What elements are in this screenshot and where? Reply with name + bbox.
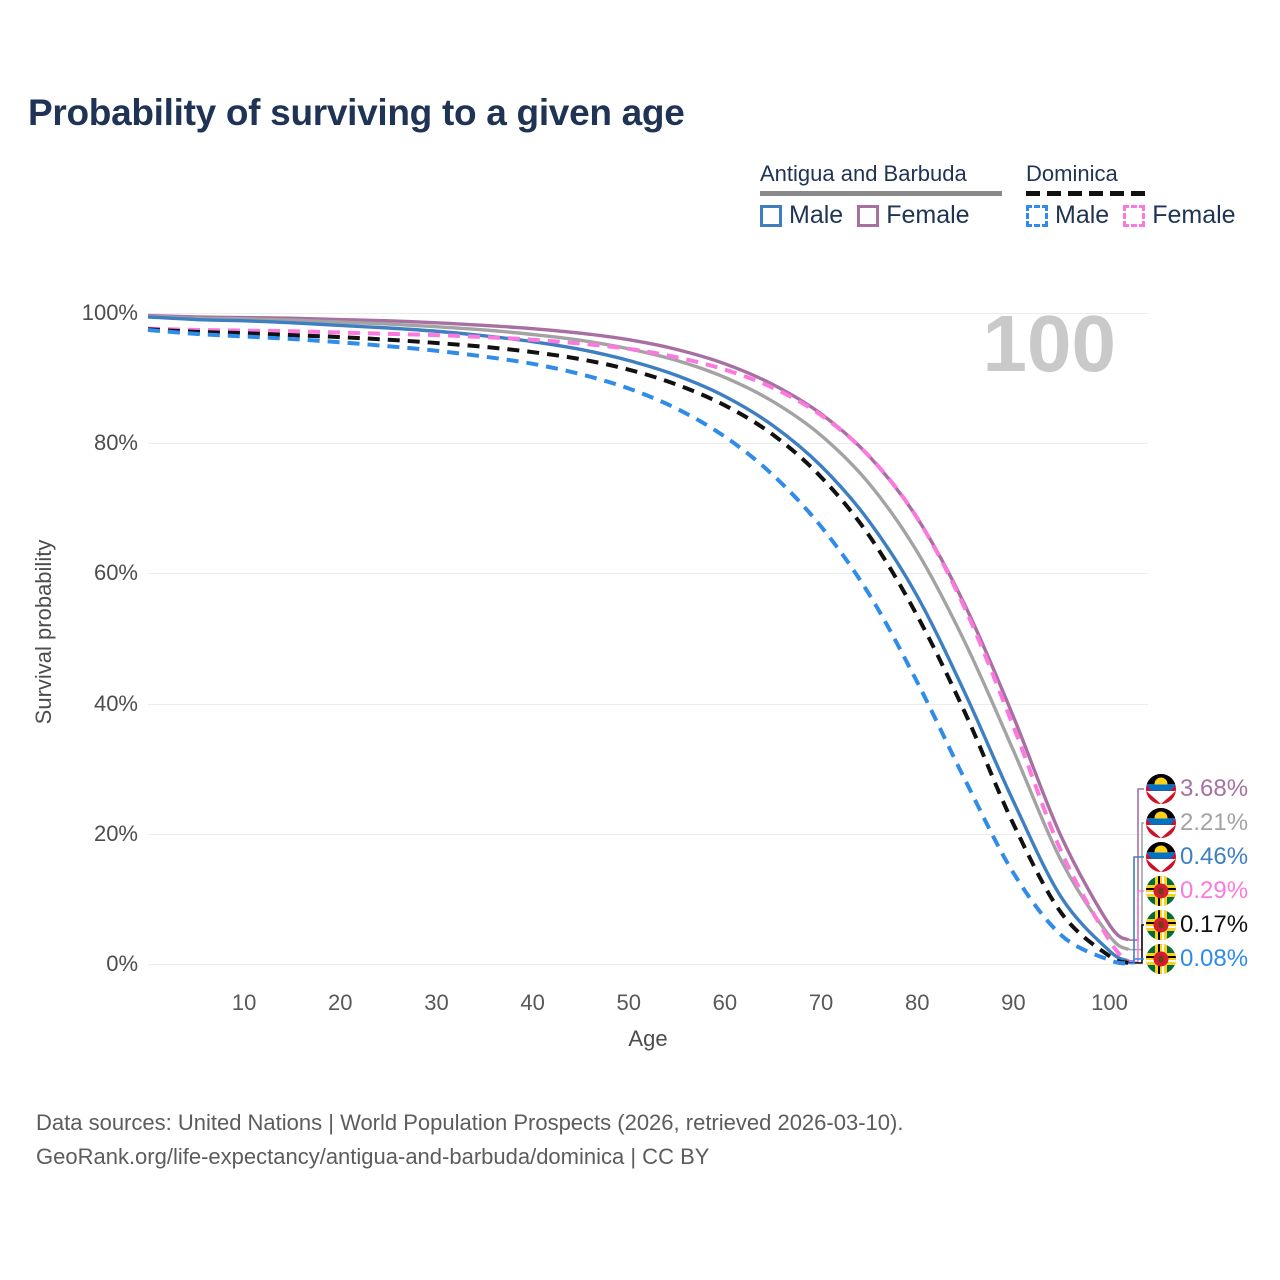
legend-item-dominica-female[interactable]: Female — [1123, 203, 1235, 228]
legend-group-dominica: Dominica Male Female — [1026, 163, 1150, 196]
series-line — [148, 330, 1129, 964]
x-axis-tick-label: 20 — [328, 990, 352, 1016]
chart-page: Probability of surviving to a given age … — [0, 0, 1280, 1280]
dominica-flag — [1146, 876, 1176, 906]
series-line — [148, 316, 1129, 940]
page-title: Probability of surviving to a given age — [28, 92, 685, 134]
antigua-and-barbuda-flag — [1146, 842, 1176, 872]
y-axis-tick-label: 80% — [94, 430, 138, 456]
end-label-value: 0.29% — [1180, 879, 1248, 903]
x-axis-tick-label: 60 — [713, 990, 737, 1016]
end-label-value: 0.17% — [1180, 913, 1248, 937]
legend-group-rule-solid — [760, 191, 1002, 196]
legend-item-label: Male — [789, 203, 843, 228]
chart-legend: Antigua and Barbuda Male Female Dominica — [744, 163, 1254, 237]
series-line — [148, 316, 1129, 949]
legend-group-title: Dominica — [1026, 163, 1150, 191]
legend-group-antigua-and-barbuda: Antigua and Barbuda Male Female — [760, 163, 1002, 196]
x-axis-tick-label: 50 — [617, 990, 641, 1016]
y-axis-tick-label: 40% — [94, 691, 138, 717]
y-axis-title: Survival probability — [31, 540, 57, 725]
x-axis-tick-label: 70 — [809, 990, 833, 1016]
y-axis-tick-label: 20% — [94, 821, 138, 847]
legend-items: Male Female — [1026, 203, 1236, 228]
legend-item-label: Male — [1055, 203, 1109, 228]
x-axis-tick-label: 100 — [1091, 990, 1128, 1016]
plot-area: 0%20%40%60%80%100% 102030405060708090100… — [148, 300, 1148, 964]
end-label-row[interactable]: 0.46% — [1146, 840, 1280, 874]
series-line — [148, 329, 1129, 963]
legend-item-antigua-female[interactable]: Female — [857, 203, 969, 228]
end-label-row[interactable]: 3.68% — [1146, 772, 1280, 806]
legend-group-title: Antigua and Barbuda — [760, 163, 1002, 191]
legend-items: Male Female — [760, 203, 970, 228]
end-label-row[interactable]: 0.08% — [1146, 942, 1280, 976]
end-label-value: 2.21% — [1180, 811, 1248, 835]
legend-item-antigua-male[interactable]: Male — [760, 203, 843, 228]
end-label-value: 0.08% — [1180, 947, 1248, 971]
end-label-row[interactable]: 0.17% — [1146, 908, 1280, 942]
footer-line-sources: Data sources: United Nations | World Pop… — [36, 1106, 903, 1140]
x-axis-tick-label: 40 — [520, 990, 544, 1016]
end-value-labels: 3.68%2.21%0.46%0.29%0.17%0.08% — [1146, 772, 1280, 976]
antigua-and-barbuda-flag — [1146, 808, 1176, 838]
footer: Data sources: United Nations | World Pop… — [36, 1106, 903, 1174]
dominica-flag — [1146, 944, 1176, 974]
x-axis-tick-label: 10 — [232, 990, 256, 1016]
legend-group-rule-dashed — [1026, 191, 1150, 196]
dominica-flag — [1146, 910, 1176, 940]
legend-swatch-icon — [1026, 205, 1048, 227]
x-axis-tick-label: 30 — [424, 990, 448, 1016]
antigua-and-barbuda-flag — [1146, 774, 1176, 804]
series-line — [148, 329, 1129, 962]
legend-swatch-icon — [760, 205, 782, 227]
legend-swatch-icon — [857, 205, 879, 227]
y-axis-tick-label: 60% — [94, 560, 138, 586]
gridline — [148, 964, 1148, 965]
legend-item-label: Female — [1152, 203, 1235, 228]
end-label-row[interactable]: 2.21% — [1146, 806, 1280, 840]
end-label-value: 3.68% — [1180, 777, 1248, 801]
x-axis-tick-label: 90 — [1001, 990, 1025, 1016]
y-axis-tick-label: 0% — [106, 951, 138, 977]
end-label-value: 0.46% — [1180, 845, 1248, 869]
y-axis-tick-label: 100% — [82, 300, 138, 326]
end-label-row[interactable]: 0.29% — [1146, 874, 1280, 908]
footer-line-attribution: GeoRank.org/life-expectancy/antigua-and-… — [36, 1140, 903, 1174]
legend-item-dominica-male[interactable]: Male — [1026, 203, 1109, 228]
chart-curves — [148, 300, 1148, 964]
legend-swatch-icon — [1123, 205, 1145, 227]
x-axis-title: Age — [628, 1026, 667, 1052]
x-axis-tick-label: 80 — [905, 990, 929, 1016]
legend-item-label: Female — [886, 203, 969, 228]
